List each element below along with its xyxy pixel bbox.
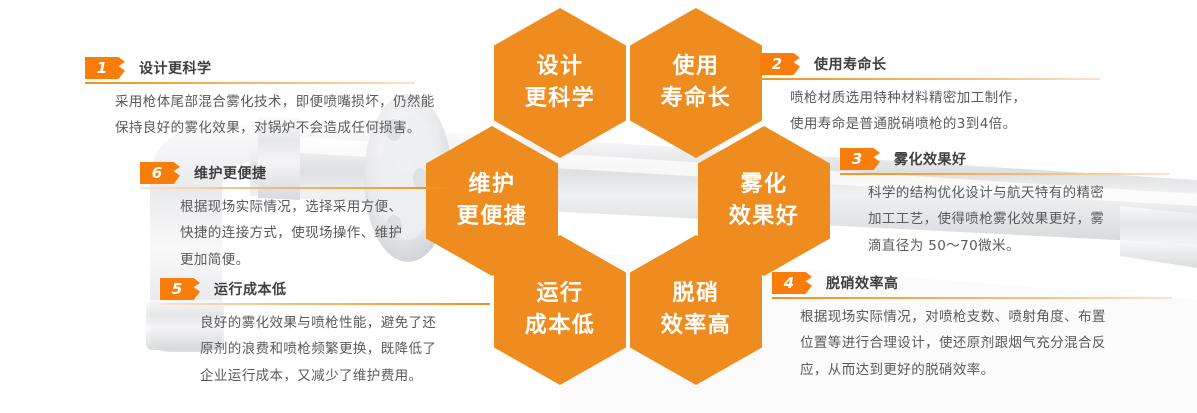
- feature-5-body: 良好的雾化效果与喷枪性能，避免了还 原剂的浪费和喷枪频繁更换，既降低了 企业运行…: [160, 310, 490, 389]
- hex-maintenance-line2: 更便捷: [457, 201, 528, 233]
- feature-6-line-2: 快捷的连接方式，使现场操作、维护: [180, 220, 450, 246]
- hex-lifespan-line1: 使用: [672, 51, 719, 83]
- feature-3-title: 雾化效果好: [894, 149, 967, 169]
- feature-block-6: 6 维护更便捷 根据现场实际情况，选择采用方便、 快捷的连接方式，使现场操作、维…: [140, 162, 450, 273]
- feature-2-header: 2 使用寿命长: [760, 53, 1100, 75]
- hex-maintenance-line1: 维护: [468, 169, 515, 201]
- feature-6-divider: [140, 187, 450, 189]
- feature-block-3: 3 雾化效果好 科学的结构优化设计与航天特有的精密 加工工艺，使得喷枪雾化效果更…: [840, 148, 1170, 259]
- feature-5-line-1: 良好的雾化效果与喷枪性能，避免了还: [200, 310, 490, 336]
- feature-4-title: 脱硝效率高: [826, 273, 899, 293]
- hex-denitration-line1: 脱硝: [672, 278, 719, 310]
- feature-5-number-badge: 5: [160, 278, 200, 300]
- feature-2-title: 使用寿命长: [814, 54, 887, 74]
- feature-1-line-2: 保持良好的雾化效果，对锅炉不会造成任何损害。: [115, 115, 415, 141]
- feature-6-number-badge: 6: [140, 162, 180, 184]
- feature-4-divider: [772, 297, 1172, 299]
- feature-4-number-badge: 4: [772, 272, 812, 294]
- feature-6-line-1: 根据现场实际情况，选择采用方便、: [180, 194, 450, 220]
- feature-6-header: 6 维护更便捷: [140, 162, 450, 184]
- hex-lifespan[interactable]: 使用 寿命长: [630, 8, 762, 158]
- feature-1-title: 设计更科学: [139, 58, 212, 78]
- feature-4-body: 根据现场实际情况，对喷枪支数、喷射角度、布置 位置等进行合理设计，使还原剂跟烟气…: [772, 304, 1172, 383]
- feature-2-body: 喷枪材质选用特种材料精密加工制作， 使用寿命是普通脱硝喷枪的3到4倍。: [760, 85, 1100, 138]
- feature-3-line-2: 加工工艺，使得喷枪雾化效果更好，雾: [868, 206, 1170, 232]
- feature-5-divider: [160, 303, 490, 305]
- feature-1-header: 1 设计更科学: [85, 57, 415, 79]
- feature-4-line-3: 应，从而达到更好的脱硝效率。: [800, 357, 1172, 383]
- feature-block-4: 4 脱硝效率高 根据现场实际情况，对喷枪支数、喷射角度、布置 位置等进行合理设计…: [772, 272, 1172, 383]
- feature-6-body: 根据现场实际情况，选择采用方便、 快捷的连接方式，使现场操作、维护 更加简便。: [140, 194, 450, 273]
- feature-4-line-2: 位置等进行合理设计，使还原剂跟烟气充分混合反: [800, 330, 1172, 356]
- feature-4-line-1: 根据现场实际情况，对喷枪支数、喷射角度、布置: [800, 304, 1172, 330]
- hex-denitration-line2: 效率高: [661, 310, 732, 342]
- hex-atomization-line2: 效果好: [729, 201, 800, 233]
- feature-block-5: 5 运行成本低 良好的雾化效果与喷枪性能，避免了还 原剂的浪费和喷枪频繁更换，既…: [160, 278, 490, 389]
- infographic-page: 设计 更科学 使用 寿命长 维护 更便捷 雾化 效果好 运行 成本低 脱硝 效率…: [0, 0, 1197, 413]
- feature-3-divider: [840, 173, 1170, 175]
- feature-1-number-badge: 1: [85, 57, 125, 79]
- feature-1-body: 采用枪体尾部混合雾化技术，即便喷嘴损坏，仍然能 保持良好的雾化效果，对锅炉不会造…: [85, 89, 415, 142]
- feature-2-divider: [760, 78, 1100, 80]
- hex-design[interactable]: 设计 更科学: [494, 8, 626, 158]
- hex-atomization-line1: 雾化: [740, 169, 787, 201]
- feature-2-line-1: 喷枪材质选用特种材料精密加工制作，: [790, 85, 1100, 111]
- feature-4-header: 4 脱硝效率高: [772, 272, 1172, 294]
- feature-3-number-badge: 3: [840, 148, 880, 170]
- feature-5-header: 5 运行成本低: [160, 278, 490, 300]
- hex-design-line1: 设计: [536, 51, 583, 83]
- feature-6-title: 维护更便捷: [194, 163, 267, 183]
- feature-5-title: 运行成本低: [214, 279, 287, 299]
- feature-block-1: 1 设计更科学 采用枪体尾部混合雾化技术，即便喷嘴损坏，仍然能 保持良好的雾化效…: [85, 57, 415, 142]
- feature-3-line-1: 科学的结构优化设计与航天特有的精密: [868, 180, 1170, 206]
- feature-6-line-3: 更加简便。: [180, 247, 450, 273]
- feature-block-2: 2 使用寿命长 喷枪材质选用特种材料精密加工制作， 使用寿命是普通脱硝喷枪的3到…: [760, 53, 1100, 138]
- feature-5-line-3: 企业运行成本，又减少了维护费用。: [200, 363, 490, 389]
- feature-5-line-2: 原剂的浪费和喷枪频繁更换，既降低了: [200, 336, 490, 362]
- feature-1-line-1: 采用枪体尾部混合雾化技术，即便喷嘴损坏，仍然能: [115, 89, 415, 115]
- hex-cost-line1: 运行: [536, 278, 583, 310]
- hex-lifespan-line2: 寿命长: [661, 83, 732, 115]
- hex-cost-line2: 成本低: [525, 310, 596, 342]
- feature-3-line-3: 滴直径为 50～70微米。: [868, 233, 1170, 259]
- feature-1-divider: [85, 82, 415, 84]
- feature-3-body: 科学的结构优化设计与航天特有的精密 加工工艺，使得喷枪雾化效果更好，雾 滴直径为…: [840, 180, 1170, 259]
- hex-design-line2: 更科学: [525, 83, 596, 115]
- feature-2-line-2: 使用寿命是普通脱硝喷枪的3到4倍。: [790, 111, 1100, 137]
- feature-3-header: 3 雾化效果好: [840, 148, 1170, 170]
- feature-2-number-badge: 2: [760, 53, 800, 75]
